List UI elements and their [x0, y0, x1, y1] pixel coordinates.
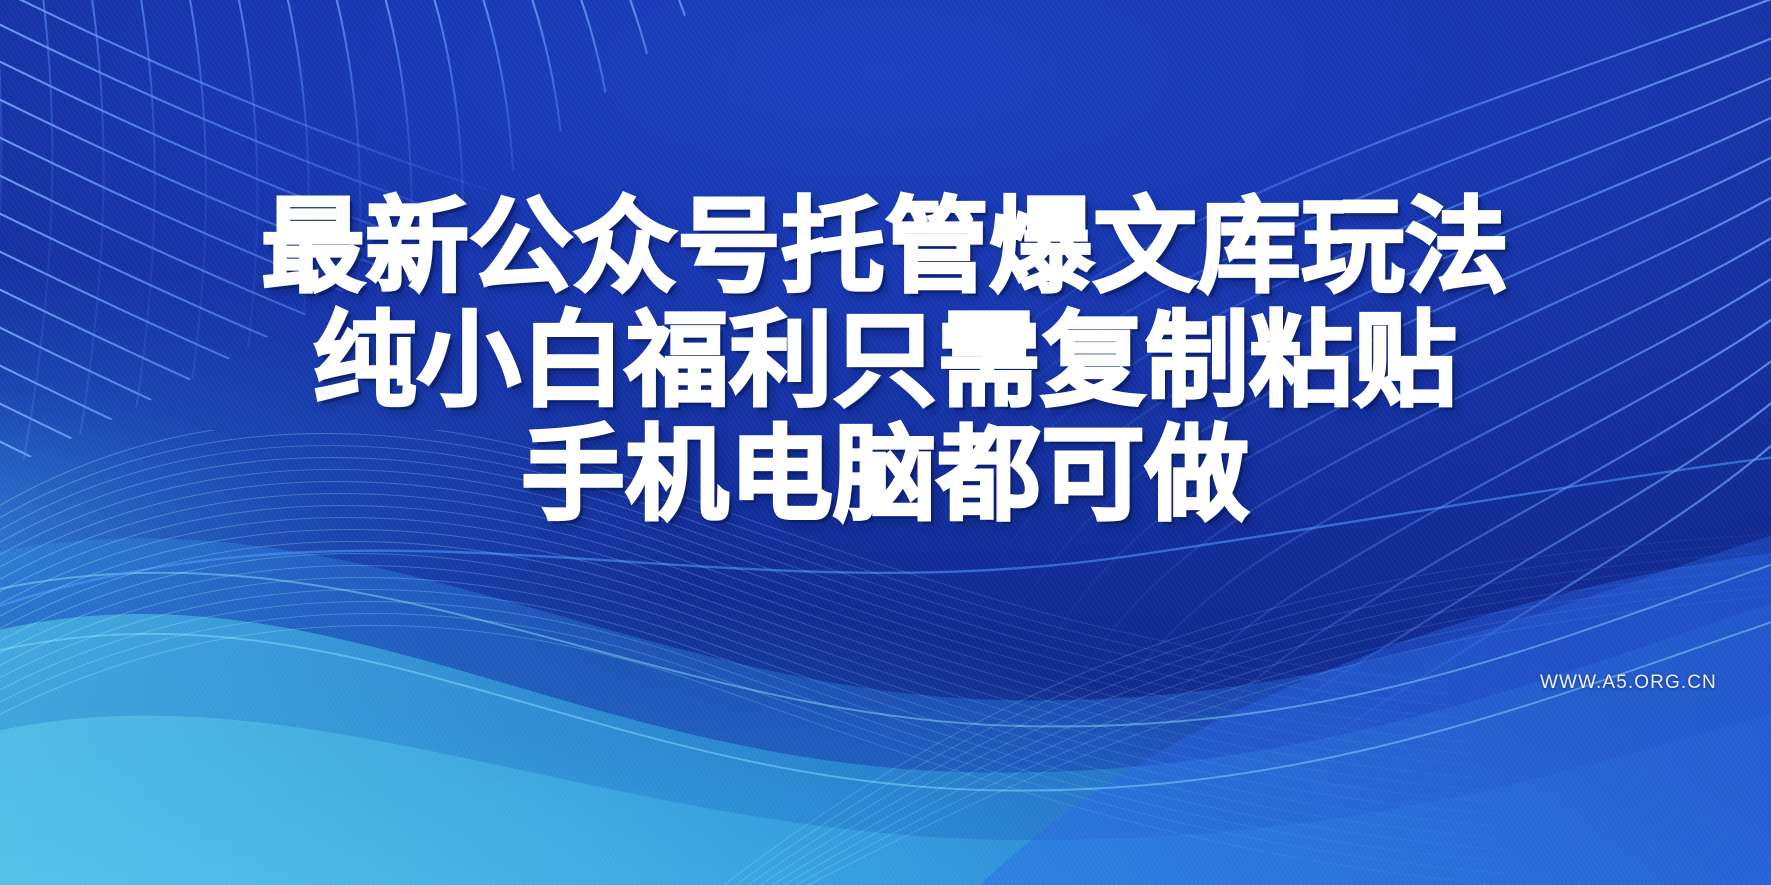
headline-line-3: 手机电脑都可做 — [0, 424, 1771, 527]
page-title: 最新公众号托管爆文库玩法 纯小白福利只需复制粘贴 手机电脑都可做 — [0, 196, 1771, 527]
headline-line-1: 最新公众号托管爆文库玩法 — [0, 196, 1771, 299]
headline-line-2: 纯小白福利只需复制粘贴 — [0, 310, 1771, 413]
watermark-url: WWW.A5.ORG.CN — [1540, 672, 1717, 694]
promo-banner: 最新公众号托管爆文库玩法 纯小白福利只需复制粘贴 手机电脑都可做 WWW.A5.… — [0, 0, 1771, 885]
